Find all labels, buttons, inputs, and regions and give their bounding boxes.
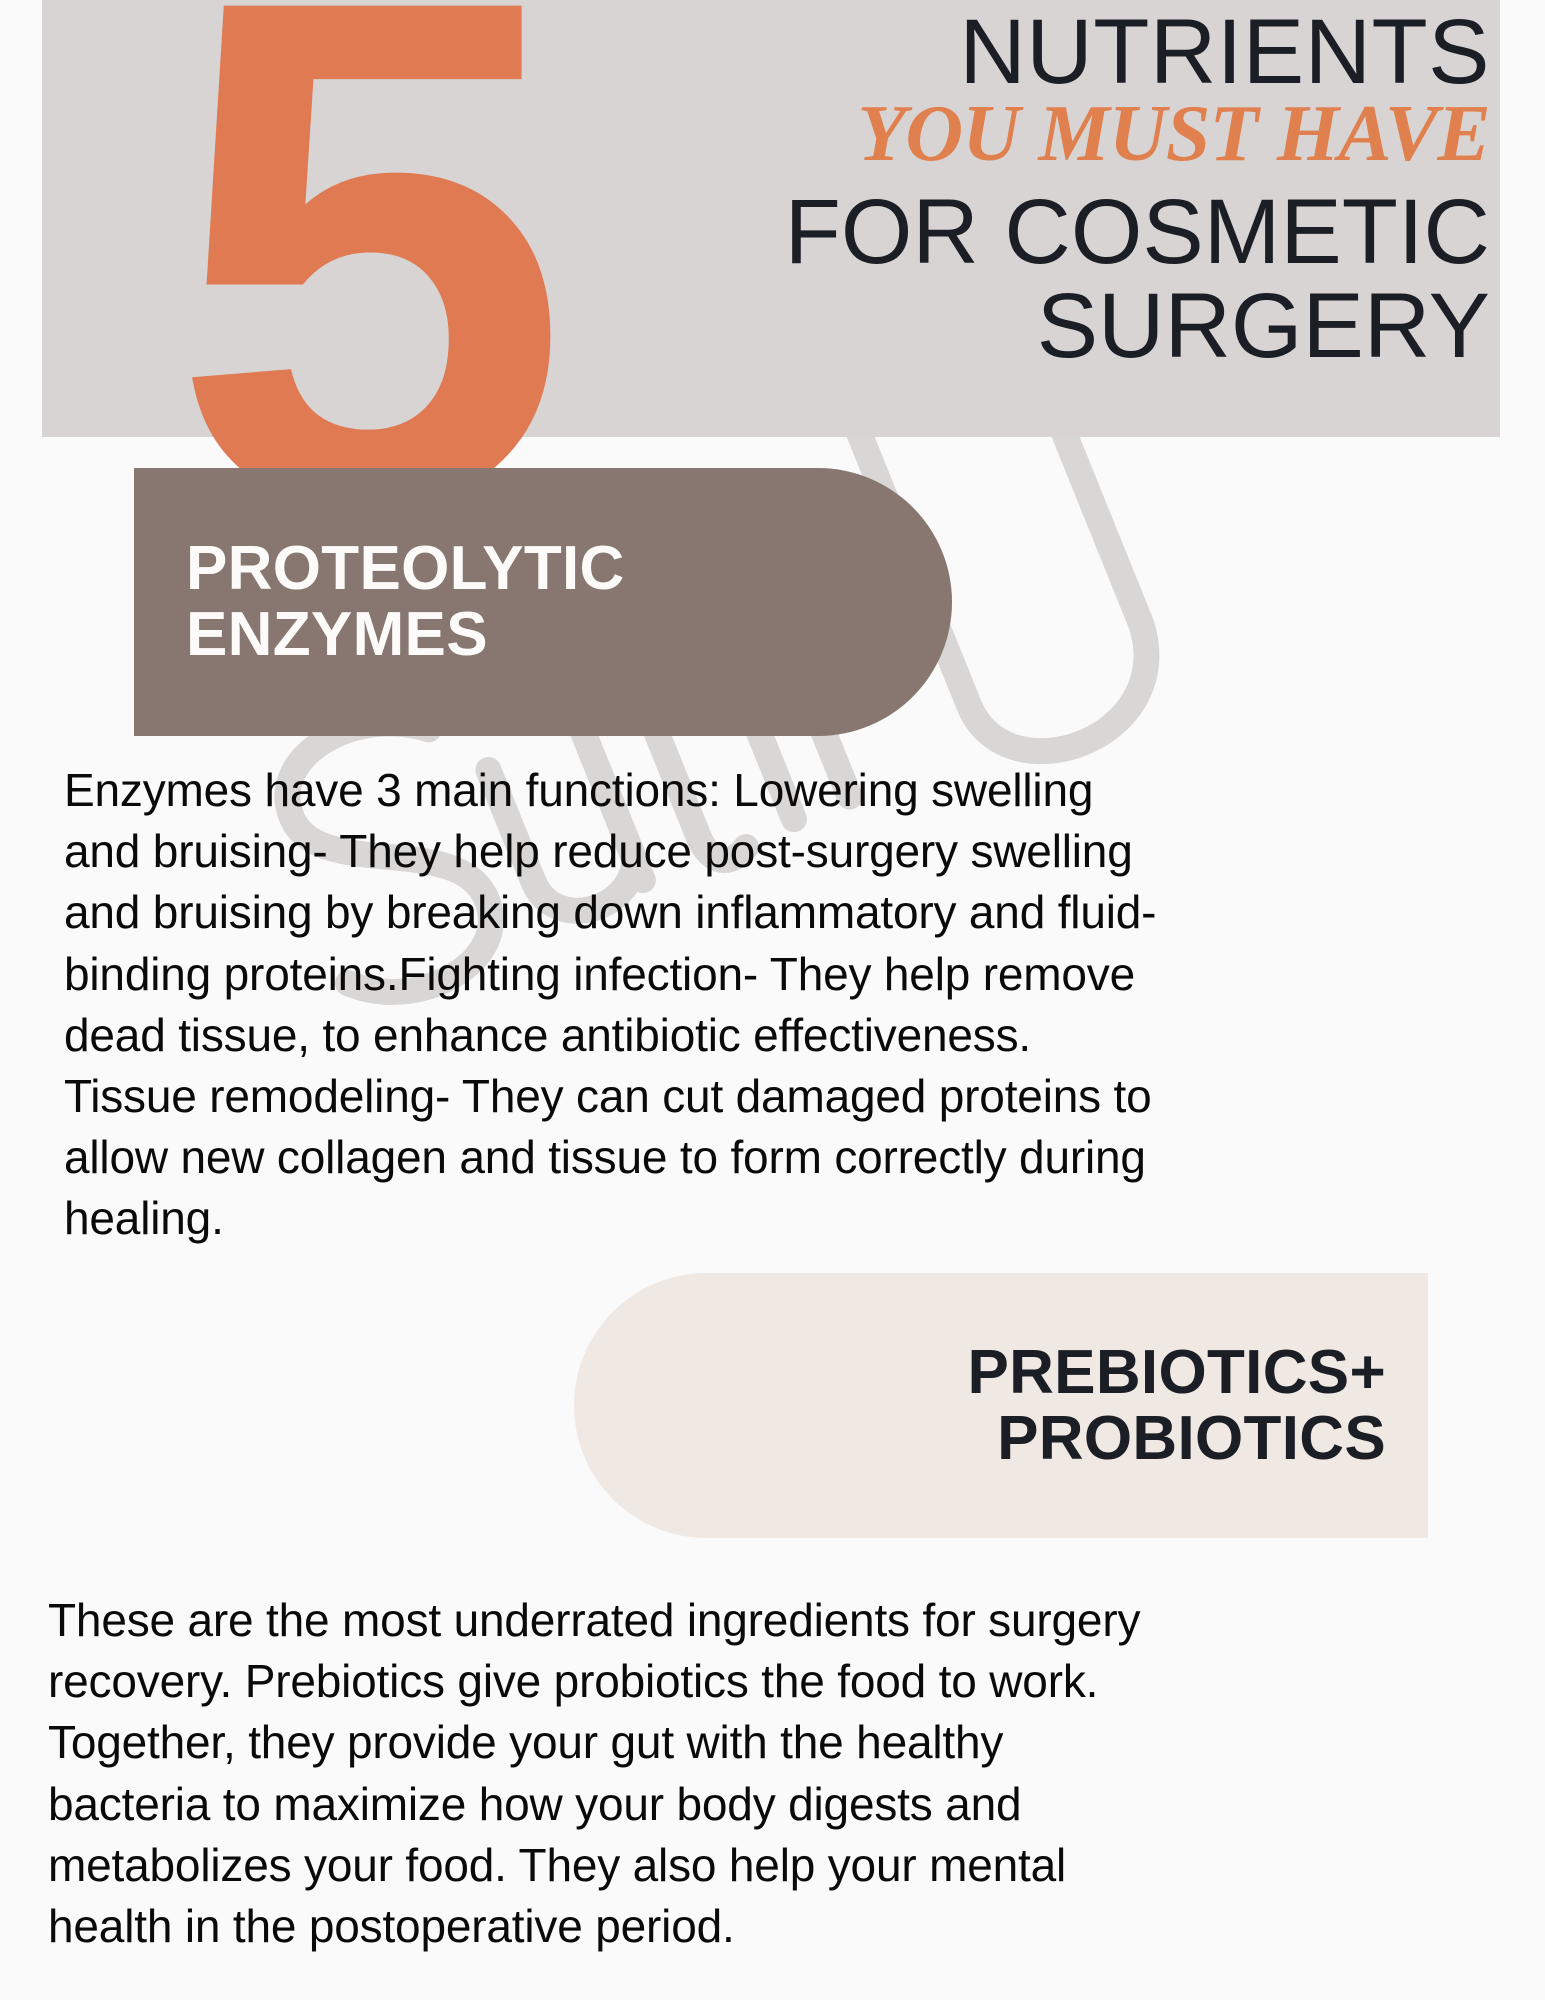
section-heading-line-2: PROBIOTICS [967, 1406, 1386, 1472]
section-body-prebiotics-probiotics: These are the most underrated ingredient… [48, 1590, 1168, 1957]
section-heading-proteolytic-enzymes: PROTEOLYTIC ENZYMES [134, 468, 952, 736]
pill-text-group: PROTEOLYTIC ENZYMES [186, 536, 625, 667]
title-line-you-must-have: YOU MUST HAVE [470, 94, 1490, 174]
section-heading-line-1: PREBIOTICS+ [967, 1340, 1386, 1406]
section-heading-line-1: PROTEOLYTIC [186, 536, 625, 602]
section-body-proteolytic-enzymes: Enzymes have 3 main functions: Lowering … [64, 760, 1164, 1249]
headline-title: NUTRIENTS YOU MUST HAVE FOR COSMETIC SUR… [470, 6, 1490, 373]
infographic-page: 5 NUTRIENTS YOU MUST HAVE FOR COSMETIC S… [0, 0, 1545, 2000]
title-line-surgery: SURGERY [470, 280, 1490, 374]
title-line-for-cosmetic: FOR COSMETIC [470, 186, 1490, 280]
title-line-nutrients: NUTRIENTS [470, 6, 1490, 100]
section-heading-line-2: ENZYMES [186, 602, 625, 668]
pill-text-group: PREBIOTICS+ PROBIOTICS [967, 1340, 1386, 1471]
section-heading-prebiotics-probiotics: PREBIOTICS+ PROBIOTICS [574, 1273, 1428, 1538]
